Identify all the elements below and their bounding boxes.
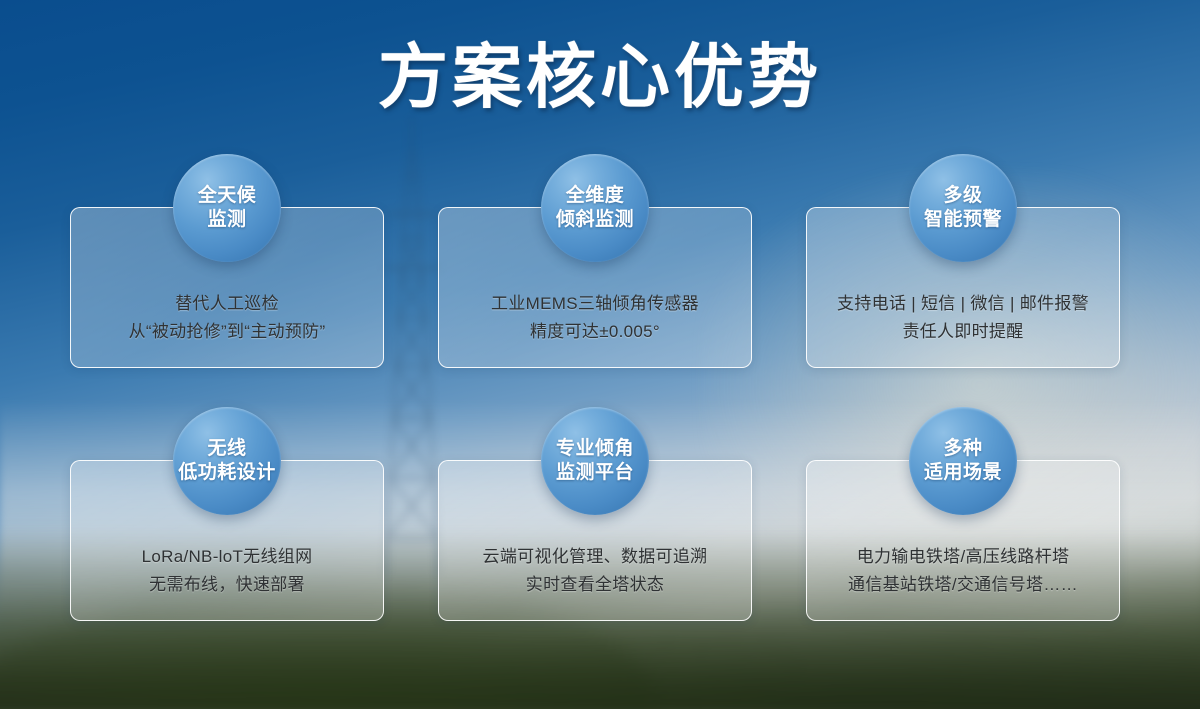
card-body: 替代人工巡检 从“被动抢修”到“主动预防” [77, 290, 377, 347]
card-body-line-2: 实时查看全塔状态 [445, 571, 745, 600]
card-badge: 无线 低功耗设计 [173, 407, 281, 515]
card-body: 电力输电铁塔/高压线路杆塔 通信基站铁塔/交通信号塔…… [813, 543, 1113, 600]
advantage-card[interactable]: 全天候 监测 替代人工巡检 从“被动抢修”到“主动预防” [70, 207, 384, 368]
card-body-line-1: LoRa/NB-loT无线组网 [77, 543, 377, 572]
badge-line-1: 全天候 [198, 184, 257, 208]
badge-line-1: 多级 [943, 184, 982, 208]
badge-line-2: 倾斜监测 [556, 208, 634, 232]
card-body-line-2: 精度可达±0.005° [445, 318, 745, 347]
advantage-card[interactable]: 全维度 倾斜监测 工业MEMS三轴倾角传感器 精度可达±0.005° [438, 207, 752, 368]
card-body-line-1: 支持电话 | 短信 | 微信 | 邮件报警 [813, 290, 1113, 319]
card-body-line-2: 从“被动抢修”到“主动预防” [77, 318, 377, 347]
card-body-line-1: 电力输电铁塔/高压线路杆塔 [813, 543, 1113, 572]
badge-line-2: 监测 [207, 208, 246, 232]
card-body-line-2: 责任人即时提醒 [813, 318, 1113, 347]
card-badge: 专业倾角 监测平台 [541, 407, 649, 515]
card-body-line-1: 云端可视化管理、数据可追溯 [445, 543, 745, 572]
badge-line-2: 适用场景 [924, 461, 1002, 485]
advantage-card-grid: 全天候 监测 替代人工巡检 从“被动抢修”到“主动预防” 全维度 倾斜监测 工业… [70, 207, 1120, 621]
badge-line-2: 智能预警 [924, 208, 1002, 232]
card-badge: 多级 智能预警 [909, 154, 1017, 262]
badge-line-1: 专业倾角 [556, 437, 634, 461]
card-body-line-2: 无需布线，快速部署 [77, 571, 377, 600]
badge-line-1: 多种 [943, 437, 982, 461]
slide-root: 方案核心优势 全天候 监测 替代人工巡检 从“被动抢修”到“主动预防” 全维度 … [0, 0, 1200, 709]
badge-line-1: 无线 [207, 437, 246, 461]
advantage-card[interactable]: 专业倾角 监测平台 云端可视化管理、数据可追溯 实时查看全塔状态 [438, 460, 752, 621]
badge-line-2: 低功耗设计 [178, 461, 276, 485]
card-badge: 多种 适用场景 [909, 407, 1017, 515]
card-body-line-2: 通信基站铁塔/交通信号塔…… [813, 571, 1113, 600]
page-title: 方案核心优势 [0, 38, 1200, 116]
card-body: 工业MEMS三轴倾角传感器 精度可达±0.005° [445, 290, 745, 347]
card-body-line-1: 工业MEMS三轴倾角传感器 [445, 290, 745, 319]
card-body: LoRa/NB-loT无线组网 无需布线，快速部署 [77, 543, 377, 600]
card-badge: 全维度 倾斜监测 [541, 154, 649, 262]
advantage-card[interactable]: 无线 低功耗设计 LoRa/NB-loT无线组网 无需布线，快速部署 [70, 460, 384, 621]
advantage-card[interactable]: 多级 智能预警 支持电话 | 短信 | 微信 | 邮件报警 责任人即时提醒 [806, 207, 1120, 368]
card-body: 云端可视化管理、数据可追溯 实时查看全塔状态 [445, 543, 745, 600]
badge-line-2: 监测平台 [556, 461, 634, 485]
badge-line-1: 全维度 [566, 184, 625, 208]
card-body-line-1: 替代人工巡检 [77, 290, 377, 319]
advantage-card[interactable]: 多种 适用场景 电力输电铁塔/高压线路杆塔 通信基站铁塔/交通信号塔…… [806, 460, 1120, 621]
card-body: 支持电话 | 短信 | 微信 | 邮件报警 责任人即时提醒 [813, 290, 1113, 347]
card-badge: 全天候 监测 [173, 154, 281, 262]
